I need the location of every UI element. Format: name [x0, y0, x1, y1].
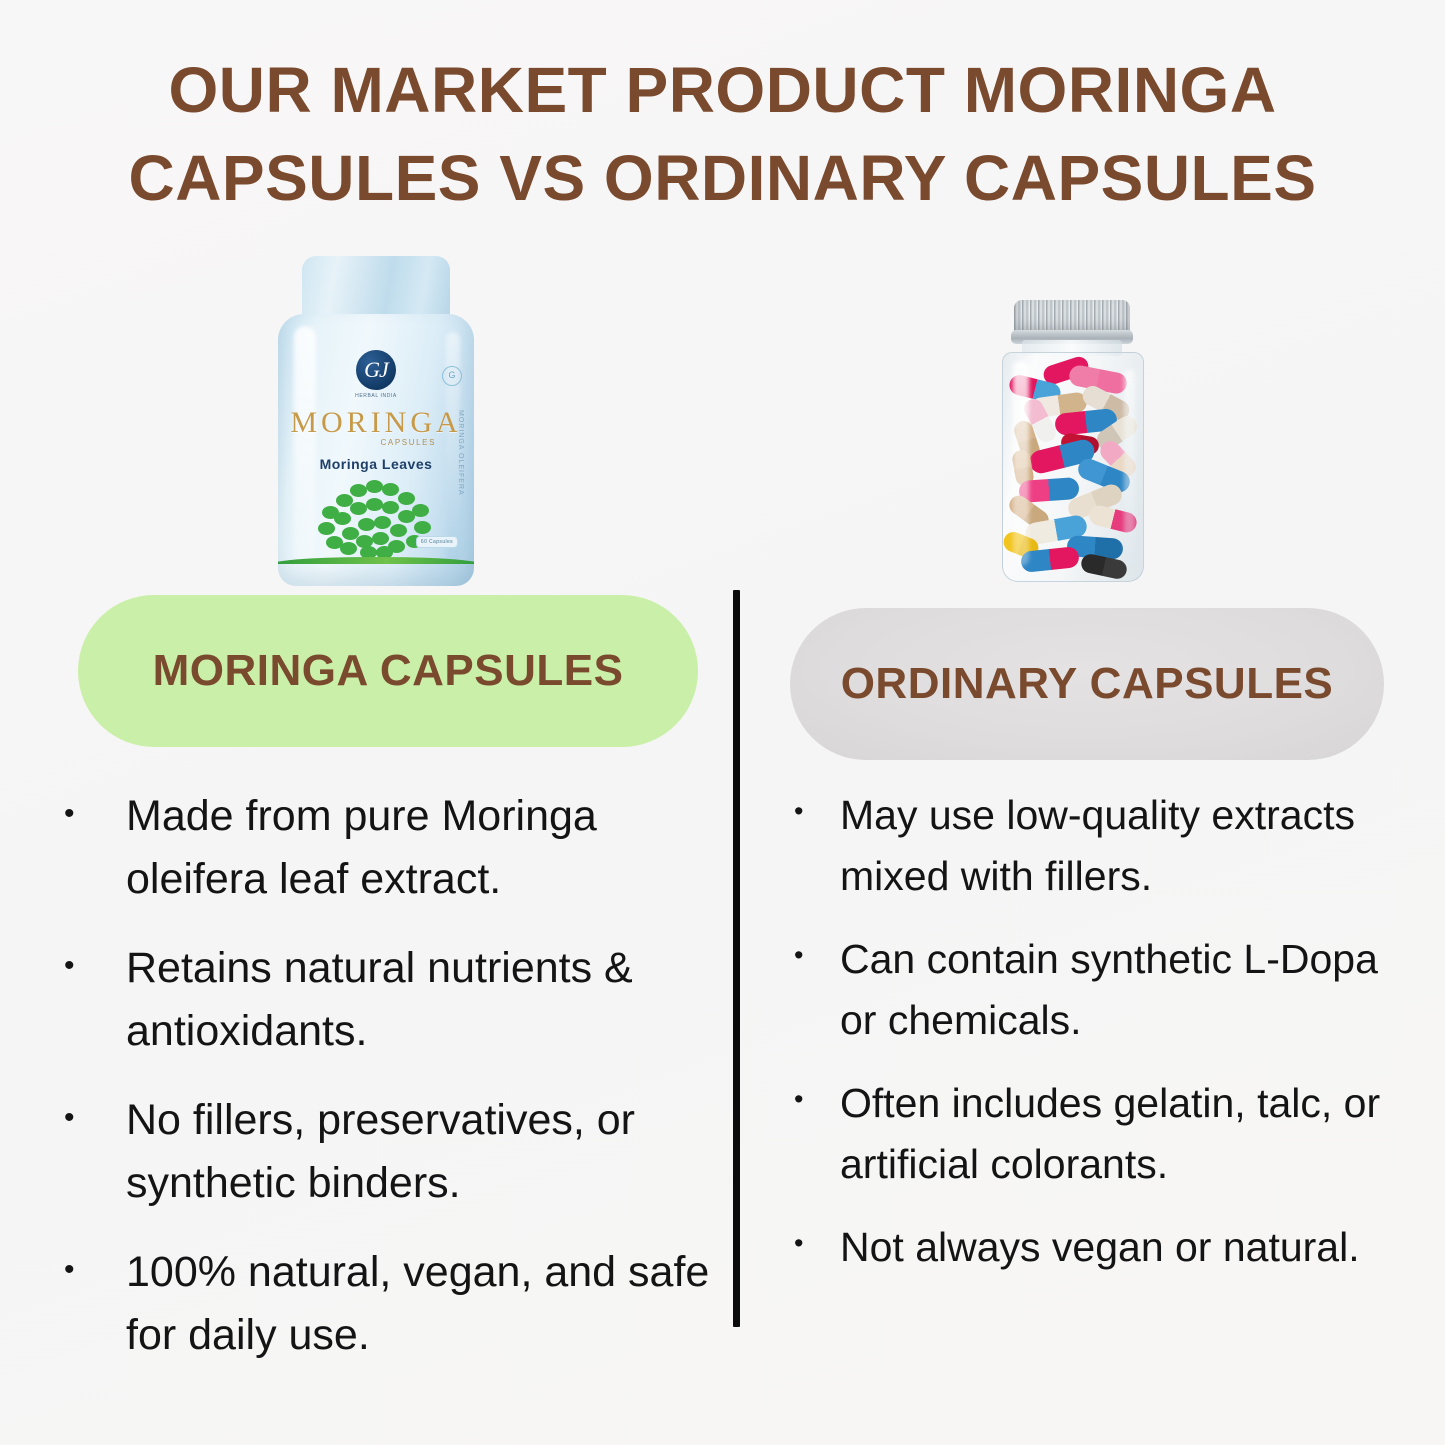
ordinary-drawbacks-list: • May use low-quality extracts mixed wit… [786, 785, 1416, 1300]
gj-brand-logo: GJ [356, 350, 396, 390]
bottle-dose-badge: 60 Capsules [416, 536, 458, 548]
badge-ordinary-capsules: ORDINARY CAPSULES [790, 608, 1384, 760]
list-item-text: Retains natural nutrients & antioxidants… [126, 937, 716, 1063]
list-item: • May use low-quality extracts mixed wit… [786, 785, 1416, 907]
list-item-text: Can contain synthetic L-Dopa or chemical… [840, 929, 1416, 1051]
jar-metal-cap [1014, 300, 1130, 336]
capsule [1020, 546, 1080, 573]
list-item: • Not always vegan or natural. [786, 1217, 1416, 1278]
jar-highlight-right [1124, 369, 1135, 564]
page-title: OUR MARKET PRODUCT MORINGA CAPSULES VS O… [0, 46, 1445, 222]
bottle-label-subtitle: CAPSULES [381, 438, 436, 447]
bottle-green-stripe [278, 557, 474, 564]
list-item: • 100% natural, vegan, and safe for dail… [50, 1241, 716, 1367]
ordinary-capsules-jar-image [1000, 300, 1144, 585]
bottle-cap [302, 256, 450, 322]
bottle-side-seal-icon: G [442, 366, 462, 386]
bottle-side-text: MORINGA OLEIFERA [457, 410, 464, 496]
bullet-dot-icon: • [786, 1230, 840, 1257]
column-divider [733, 590, 740, 1327]
list-item-text: Often includes gelatin, talc, or artific… [840, 1073, 1416, 1195]
bullet-dot-icon: • [786, 1086, 840, 1113]
bullet-dot-icon: • [50, 1103, 126, 1133]
list-item-text: Made from pure Moringa oleifera leaf ext… [126, 785, 716, 911]
moringa-benefits-list: • Made from pure Moringa oleifera leaf e… [50, 785, 716, 1393]
moringa-bottle-image: GJ HERBAL INDIA MORINGA CAPSULES Moringa… [278, 256, 474, 586]
infographic-page: OUR MARKET PRODUCT MORINGA CAPSULES VS O… [0, 0, 1445, 1445]
jar-body [1002, 352, 1144, 582]
bottle-label-tagline: Moringa Leaves [278, 456, 474, 472]
product-images-row: GJ HERBAL INDIA MORINGA CAPSULES Moringa… [0, 248, 1445, 593]
list-item: • No fillers, preservatives, or syntheti… [50, 1089, 716, 1215]
gj-brand-sublabel: HERBAL INDIA [355, 393, 397, 399]
page-title-line-1: OUR MARKET PRODUCT MORINGA [0, 46, 1445, 134]
list-item: • Can contain synthetic L-Dopa or chemic… [786, 929, 1416, 1051]
bullet-dot-icon: • [786, 942, 840, 969]
list-item-text: May use low-quality extracts mixed with … [840, 785, 1416, 907]
bullet-dot-icon: • [50, 951, 126, 981]
list-item: • Often includes gelatin, talc, or artif… [786, 1073, 1416, 1195]
bullet-dot-icon: • [50, 1255, 126, 1285]
badge-moringa-capsules: MORINGA CAPSULES [78, 595, 698, 747]
bottle-label-title: MORINGA [278, 406, 474, 440]
page-title-line-2: CAPSULES VS ORDINARY CAPSULES [0, 134, 1445, 222]
bottle-body: GJ HERBAL INDIA MORINGA CAPSULES Moringa… [278, 314, 474, 586]
list-item-text: 100% natural, vegan, and safe for daily … [126, 1241, 716, 1367]
bullet-dot-icon: • [786, 798, 840, 825]
list-item-text: Not always vegan or natural. [840, 1217, 1416, 1278]
list-item: • Made from pure Moringa oleifera leaf e… [50, 785, 716, 911]
list-item: • Retains natural nutrients & antioxidan… [50, 937, 716, 1063]
bottle-highlight-left [294, 326, 316, 564]
capsule [1080, 552, 1129, 580]
jar-highlight-left [1013, 361, 1029, 566]
list-item-text: No fillers, preservatives, or synthetic … [126, 1089, 716, 1215]
bullet-dot-icon: • [50, 799, 126, 829]
